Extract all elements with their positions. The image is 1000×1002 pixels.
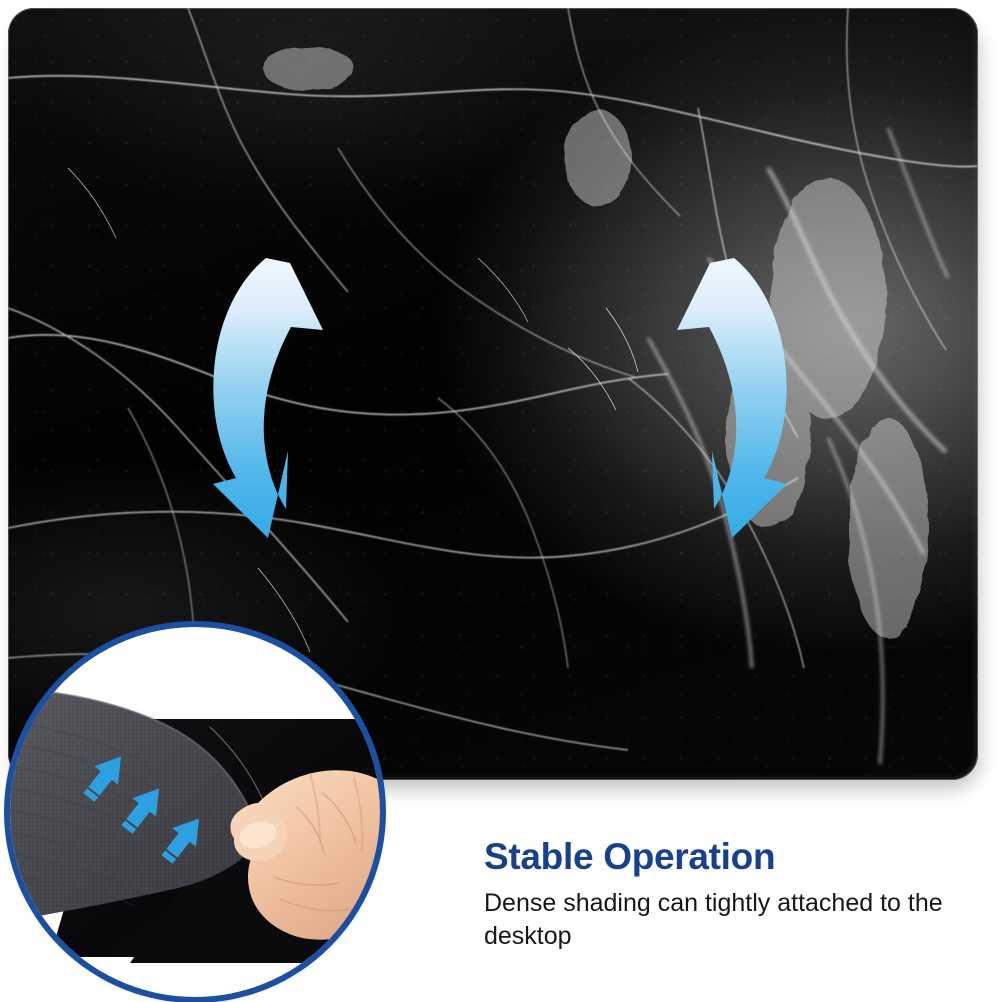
- inset-blue-ring: [10, 627, 380, 997]
- caption-title: Stable Operation: [484, 838, 954, 877]
- product-feature-image: Stable Operation Dense shading can tight…: [0, 0, 1000, 1002]
- detail-circle-underside: [10, 627, 380, 997]
- caption-block: Stable Operation Dense shading can tight…: [484, 838, 954, 953]
- caption-subtitle: Dense shading can tightly attached to th…: [484, 887, 954, 953]
